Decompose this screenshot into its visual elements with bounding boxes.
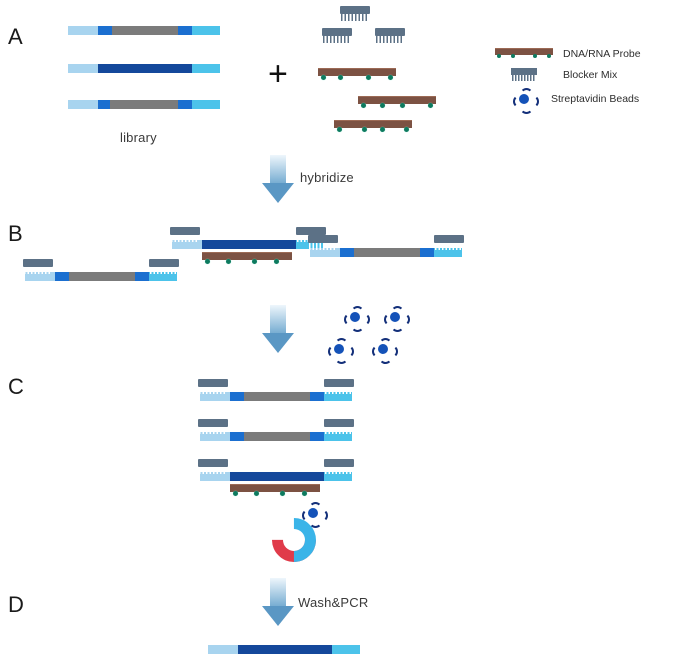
blocker-mix [324,379,354,387]
insert-region [69,272,135,281]
biotin-dot [205,259,210,264]
insert-target [238,645,332,654]
dna-rna-probe [202,252,292,260]
caption-library: library [120,131,157,144]
streptavidin-bead [328,338,350,360]
bead-arm [357,313,370,326]
blocker-mix [308,235,338,243]
arrow-head [262,606,294,626]
blocker-teeth [325,387,353,394]
index-left [230,392,244,401]
blocker-mix [324,419,354,427]
panel-letter-A: A [8,26,23,48]
bead-arm [397,313,410,326]
adapter-right [192,64,220,73]
blocker-mix [340,6,370,14]
bead-arm [384,313,397,326]
index-left [98,100,110,109]
blocker-teeth [171,235,199,242]
biotin-dot [337,127,342,132]
bead-arm [344,313,357,326]
caption-hybridize: hybridize [300,171,354,184]
blocker-bar [511,68,537,75]
index-right [178,26,192,35]
bead-arm [372,345,385,358]
adapter-left [68,100,98,109]
index-right [420,248,434,257]
caption-wash-pcr: Wash&PCR [298,596,368,609]
legend-row-blocker-mix-icon: Blocker Mix [495,68,617,81]
library-fragment-2 [68,64,220,73]
biotin-dot [511,54,515,58]
bead-arm [315,509,328,522]
biotin-dot [252,259,257,264]
blocker-mix [324,459,354,467]
arrow-shaft [270,305,286,335]
blocker-mix [198,459,228,467]
figure-canvas: ABCDlibraryhybridizeWash&PCR+DNA/RNA Pro… [0,0,685,663]
insert-region [354,248,420,257]
probe-bar [495,48,553,55]
arrow-head [262,183,294,203]
blocker-mix [23,259,53,267]
plus-sign: + [268,57,288,91]
library-fragment-1 [68,26,220,35]
blocker-teeth [325,427,353,434]
dna-rna-probe [230,484,320,492]
index-left [55,272,69,281]
biotin-dot [388,75,393,80]
insert-region [112,26,178,35]
dna-rna-probe [334,120,412,128]
blocker-mix [434,235,464,243]
biotin-dot [497,54,501,58]
adapter-left [68,64,98,73]
blocker-mix [322,28,352,36]
biotin-dot [380,127,385,132]
biotin-dot [338,75,343,80]
insert-target [98,64,192,73]
blocker-mix [198,379,228,387]
biotin-dot [361,103,366,108]
index-left [98,26,112,35]
blocker-teeth [24,267,52,274]
enriched-target-fragment [208,645,360,654]
index-right [135,272,149,281]
insert-region [244,392,310,401]
library-fragment-3 [68,100,220,109]
blocker-teeth [199,427,227,434]
bead-arm [526,95,539,108]
adapter-left [68,26,98,35]
magnet-icon [272,518,316,562]
blocker-teeth [512,75,536,81]
adapter-right [332,645,360,654]
legend-row-streptavidin-bead-icon: Streptavidin Beads [495,88,639,110]
panel-letter-B: B [8,223,23,245]
blocker-teeth [341,14,369,21]
arrow-shaft [270,578,286,608]
biotin-dot [226,259,231,264]
blocker-teeth [435,243,463,250]
bead-arm [513,95,526,108]
biotin-dot [547,54,551,58]
biotin-dot [280,491,285,496]
biotin-dot [428,103,433,108]
streptavidin-bead [372,338,394,360]
panel-letter-C: C [8,376,24,398]
streptavidin-bead [384,306,406,328]
blocker-mix [296,227,326,235]
blocker-mix [375,28,405,36]
legend-row-dna-rna-probe-icon: DNA/RNA Probe [495,48,641,60]
magnet-blue-arc [263,509,325,571]
blocker-teeth [150,267,178,274]
biotin-dot [533,54,537,58]
insert-region [110,100,178,109]
biotin-dot [321,75,326,80]
adapter-right [192,100,220,109]
bead-arm [341,345,354,358]
streptavidin-bead-icon [513,88,535,110]
index-left [340,248,354,257]
index-left [230,432,244,441]
blocker-teeth [199,387,227,394]
blocker-teeth [376,36,404,43]
biotin-dot [362,127,367,132]
insert-target [230,472,324,481]
blocker-teeth [325,467,353,474]
index-right [310,392,324,401]
biotin-dot [380,103,385,108]
panel-letter-D: D [8,594,24,616]
blocker-mix [198,419,228,427]
blocker-teeth [323,36,351,43]
adapter-right [192,26,220,35]
arrow-head [262,333,294,353]
arrow-shaft [270,155,286,185]
bead-arm [328,345,341,358]
biotin-dot [233,491,238,496]
blocker-mix [149,259,179,267]
insert-region [244,432,310,441]
index-right [178,100,192,109]
legend-label: DNA/RNA Probe [563,48,641,60]
insert-target [202,240,296,249]
dna-rna-probe-icon [495,48,553,60]
dna-rna-probe [318,68,396,76]
blocker-mix [170,227,200,235]
adapter-left [208,645,238,654]
biotin-dot [302,491,307,496]
blocker-teeth [309,243,337,250]
biotin-dot [366,75,371,80]
index-right [310,432,324,441]
dna-rna-probe [358,96,436,104]
bead-arm [385,345,398,358]
streptavidin-bead [344,306,366,328]
legend-label: Streptavidin Beads [551,93,639,105]
blocker-teeth [199,467,227,474]
biotin-dot [274,259,279,264]
biotin-dot [404,127,409,132]
biotin-dot [400,103,405,108]
legend-label: Blocker Mix [563,69,617,81]
blocker-mix-icon [511,68,537,81]
biotin-dot [254,491,259,496]
